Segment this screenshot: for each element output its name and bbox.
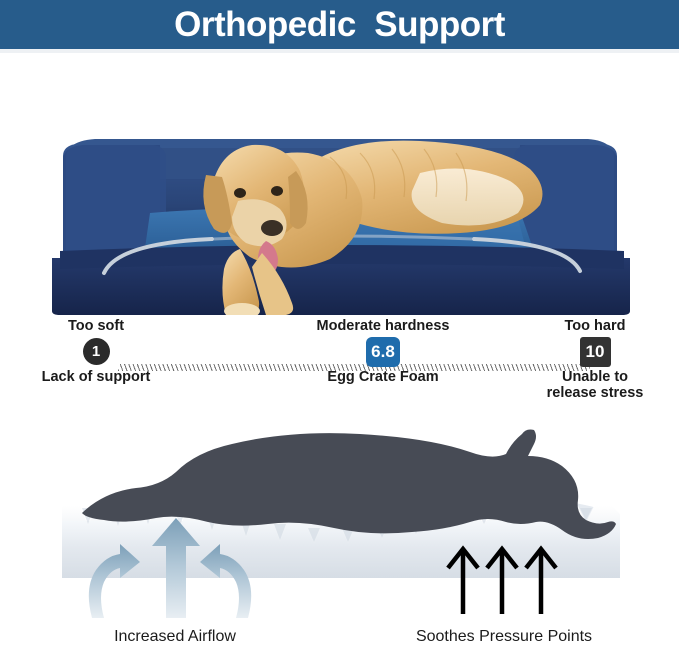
scale-stop-top-label: Too hard [519,318,671,335]
scale-marker-10: 10 [580,337,611,367]
scale-stop-bottom-label: Unable to release stress [519,369,671,402]
scale-stop-bottom-label: Lack of support [16,369,176,386]
scale-stop-too-soft: Too soft 1 Lack of support [16,318,176,385]
pressure-arrow-2 [487,549,517,614]
scale-marker-68: 6.8 [366,337,400,367]
pressure-arrows [448,549,556,614]
pressure-arrow-3 [526,549,556,614]
scale-marker-1: 1 [83,338,110,365]
foam-cross-section-diagram [0,418,679,624]
scale-stop-moderate: Moderate hardness 6.8 Egg Crate Foam [308,318,458,385]
scale-marker-wrapper: 6.8 [308,337,458,367]
scale-stop-bottom-label: Egg Crate Foam [308,369,458,386]
scale-stop-too-hard: Too hard 10 Unable to release stress [519,318,671,402]
page-title: Orthopedic Support [174,7,505,42]
caption-increased-airflow: Increased Airflow [44,628,306,646]
scale-stop-top-label: Too soft [16,318,176,335]
hardness-scale: Too soft 1 Lack of support Moderate hard… [0,318,679,418]
header-banner: Orthopedic Support [0,0,679,49]
product-photo [0,53,679,315]
scale-stop-top-label: Moderate hardness [308,318,458,335]
caption-soothes-pressure-points: Soothes Pressure Points [364,628,644,646]
scale-marker-wrapper: 1 [16,337,176,367]
infographic-page: Orthopedic Support [0,0,679,660]
scale-marker-wrapper: 10 [519,337,671,367]
pressure-arrow-1 [448,549,478,614]
dog-bed-photo-illustration [0,53,679,315]
foam-slab [62,521,620,578]
diagram-captions: Increased Airflow Soothes Pressure Point… [0,628,679,660]
